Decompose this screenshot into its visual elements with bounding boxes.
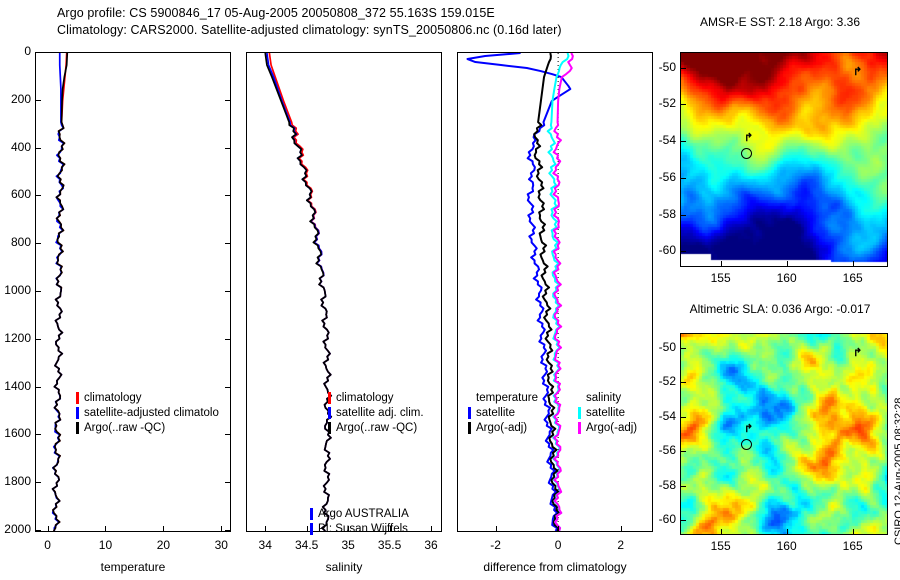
- legend-swatch: [578, 422, 581, 434]
- panel-temperature: [35, 52, 231, 532]
- legend-difference-salinity: salinity satellite Argo(-adj): [578, 390, 637, 435]
- depth-tick-mark: [225, 339, 230, 340]
- legend-label: satellite: [476, 407, 515, 419]
- legend-label: Argo(-adj): [586, 422, 637, 434]
- xlabel-difference: difference from climatology: [457, 560, 653, 574]
- series-satellite-adj-clim-: [267, 53, 331, 531]
- attribution-swatch: [310, 523, 313, 535]
- page-title-line1: Argo profile: CS 5900846_17 05-Aug-2005 …: [57, 6, 495, 20]
- x-tick-mark: [265, 526, 266, 531]
- legend-swatch: [76, 392, 79, 404]
- legend-item: Argo(-adj): [578, 420, 637, 435]
- map-y-tick-label: -58: [644, 207, 676, 221]
- map-y-tick-mark: [681, 215, 686, 216]
- map-y-tick-label: -54: [644, 409, 676, 423]
- legend-salinity: climatology satellite adj. clim. Argo(..…: [328, 390, 424, 435]
- x-tick-label: 0: [18, 538, 78, 552]
- xlabel-salinity: salinity: [246, 560, 442, 574]
- legend-label: satellite-adjusted climatolo: [84, 407, 219, 419]
- depth-tick-mark: [225, 148, 230, 149]
- legend-item: Argo(..raw -QC): [328, 420, 424, 435]
- map-y-tick-label: -56: [644, 170, 676, 184]
- attribution-swatch: [310, 508, 313, 520]
- depth-tick-mark: [36, 387, 41, 388]
- depth-tick-label: 1600: [0, 426, 31, 440]
- legend-swatch: [468, 422, 471, 434]
- map-x-tick-mark: [787, 261, 788, 266]
- depth-tick-label: 0: [0, 44, 31, 58]
- legend-item: satellite: [468, 405, 538, 420]
- legend-item: climatology: [328, 390, 424, 405]
- argo-position-marker: [741, 439, 752, 450]
- float-track-marker-secondary: ↱: [853, 348, 862, 359]
- x-tick-label: -2: [466, 538, 526, 552]
- legend-header-salinity: salinity: [578, 390, 637, 405]
- x-tick-label: 20: [133, 538, 193, 552]
- legend-swatch: [76, 422, 79, 434]
- depth-tick-mark: [36, 195, 41, 196]
- depth-tick-label: 400: [0, 140, 31, 154]
- map-y-tick-mark: [681, 520, 686, 521]
- float-track-marker: ↱: [744, 424, 753, 435]
- map-y-tick-mark: [681, 104, 686, 105]
- map-y-tick-label: -58: [644, 478, 676, 492]
- legend-item: Argo(..raw -QC): [76, 420, 219, 435]
- map-y-tick-mark: [681, 348, 686, 349]
- depth-tick-label: 1000: [0, 283, 31, 297]
- legend-swatch: [468, 407, 471, 419]
- depth-tick-mark: [225, 434, 230, 435]
- map-y-tick-label: -60: [644, 512, 676, 526]
- legend-label: climatology: [84, 392, 142, 404]
- depth-tick-mark: [225, 291, 230, 292]
- map-x-tick-mark: [853, 261, 854, 266]
- depth-tick-mark: [36, 243, 41, 244]
- map-y-tick-mark: [681, 417, 686, 418]
- attribution-pi: PI: Susan Wijffels: [318, 523, 408, 535]
- x-tick-mark: [431, 526, 432, 531]
- map-sst: ↱ ↱: [680, 52, 888, 267]
- map-x-tick-label: 160: [757, 271, 817, 285]
- map-x-tick-label: 165: [823, 271, 883, 285]
- map-y-tick-mark: [681, 251, 686, 252]
- depth-tick-label: 600: [0, 187, 31, 201]
- map-x-tick-mark: [787, 529, 788, 534]
- legend-label: Argo(-adj): [476, 422, 527, 434]
- series-salinity-argo-adj-: [553, 53, 573, 531]
- map-y-tick-label: -50: [644, 60, 676, 74]
- map-x-tick-mark: [853, 529, 854, 534]
- legend-item: satellite adj. clim.: [328, 405, 424, 420]
- depth-tick-label: 800: [0, 235, 31, 249]
- legend-item: satellite: [578, 405, 637, 420]
- map-y-tick-mark: [681, 178, 686, 179]
- sla-map-title: Altimetric SLA: 0.036 Argo: -0.017: [672, 302, 888, 316]
- xlabel-temperature: temperature: [35, 560, 231, 574]
- x-tick-mark: [48, 526, 49, 531]
- x-tick-mark: [496, 526, 497, 531]
- map-x-tick-mark: [721, 529, 722, 534]
- legend-label: satellite: [586, 407, 625, 419]
- series-climatology: [269, 53, 331, 531]
- legend-label: Argo(..raw -QC): [336, 422, 417, 434]
- depth-tick-label: 1400: [0, 379, 31, 393]
- legend-label: climatology: [336, 392, 394, 404]
- map-y-tick-mark: [681, 486, 686, 487]
- legend-difference-temperature: temperature satellite Argo(-adj): [468, 390, 538, 435]
- depth-tick-mark: [36, 100, 41, 101]
- argo-position-marker: [741, 148, 752, 159]
- series-climatology: [53, 53, 67, 531]
- x-tick-mark: [221, 526, 222, 531]
- attribution-block: Argo AUSTRALIA PI: Susan Wijffels: [310, 506, 409, 536]
- legend-swatch: [578, 407, 581, 419]
- depth-tick-mark: [36, 482, 41, 483]
- map-y-tick-label: -52: [644, 374, 676, 388]
- depth-tick-mark: [225, 100, 230, 101]
- depth-tick-mark: [225, 387, 230, 388]
- series-argo-raw-qc-: [53, 53, 68, 531]
- x-tick-mark: [621, 526, 622, 531]
- legend-swatch: [328, 392, 331, 404]
- panel-difference: [457, 52, 653, 532]
- x-tick-mark: [105, 526, 106, 531]
- x-tick-label: 0: [528, 538, 588, 552]
- depth-tick-mark: [36, 148, 41, 149]
- legend-swatch: [76, 407, 79, 419]
- depth-tick-label: 200: [0, 92, 31, 106]
- legend-item: climatology: [76, 390, 219, 405]
- map-x-tick-label: 160: [757, 539, 817, 553]
- attribution-program: Argo AUSTRALIA: [318, 508, 409, 520]
- legend-item: satellite-adjusted climatolo: [76, 405, 219, 420]
- map-y-tick-mark: [681, 382, 686, 383]
- legend-temperature: climatology satellite-adjusted climatolo…: [76, 390, 219, 435]
- csiro-timestamp: CSIRO 12-Aug-2005 08:32:28: [893, 398, 900, 545]
- map-x-tick-label: 155: [691, 539, 751, 553]
- map-y-tick-label: -50: [644, 340, 676, 354]
- depth-tick-mark: [36, 291, 41, 292]
- legend-label: Argo(..raw -QC): [84, 422, 165, 434]
- map-x-tick-mark: [721, 261, 722, 266]
- map-y-tick-mark: [681, 141, 686, 142]
- depth-tick-mark: [225, 482, 230, 483]
- map-x-tick-label: 165: [823, 539, 883, 553]
- legend-label: satellite adj. clim.: [336, 407, 424, 419]
- float-track-marker-secondary: ↱: [853, 67, 862, 78]
- float-track-marker: ↱: [744, 133, 753, 144]
- depth-tick-label: 1800: [0, 474, 31, 488]
- map-y-tick-label: -56: [644, 443, 676, 457]
- depth-tick-mark: [225, 530, 230, 531]
- map-y-tick-mark: [681, 68, 686, 69]
- page-title-line2: Climatology: CARS2000. Satellite-adjuste…: [57, 23, 562, 37]
- depth-tick-mark: [36, 339, 41, 340]
- depth-tick-mark: [225, 243, 230, 244]
- depth-tick-mark: [36, 530, 41, 531]
- map-y-tick-label: -60: [644, 243, 676, 257]
- map-x-tick-label: 155: [691, 271, 751, 285]
- series-argo-raw-qc-: [265, 53, 331, 531]
- map-sla: ↱ ↱: [680, 333, 888, 535]
- x-tick-mark: [558, 526, 559, 531]
- depth-tick-mark: [225, 52, 230, 53]
- attribution-program-row: Argo AUSTRALIA: [310, 506, 409, 521]
- depth-tick-mark: [36, 52, 41, 53]
- map-y-tick-label: -52: [644, 96, 676, 110]
- x-tick-label: 36: [401, 538, 461, 552]
- legend-swatch: [328, 407, 331, 419]
- depth-tick-label: 2000: [0, 522, 31, 536]
- depth-tick-label: 1200: [0, 331, 31, 345]
- x-tick-label: 10: [75, 538, 135, 552]
- legend-swatch: [328, 422, 331, 434]
- x-tick-mark: [163, 526, 164, 531]
- legend-header-temperature: temperature: [468, 390, 538, 405]
- x-tick-mark: [307, 526, 308, 531]
- panel-salinity: [246, 52, 442, 532]
- attribution-pi-row: PI: Susan Wijffels: [310, 521, 409, 536]
- depth-tick-mark: [225, 195, 230, 196]
- sst-map-title: AMSR-E SST: 2.18 Argo: 3.36: [672, 15, 888, 29]
- legend-item: Argo(-adj): [468, 420, 538, 435]
- x-tick-label: 2: [591, 538, 651, 552]
- depth-tick-mark: [36, 434, 41, 435]
- map-y-tick-label: -54: [644, 133, 676, 147]
- map-y-tick-mark: [681, 451, 686, 452]
